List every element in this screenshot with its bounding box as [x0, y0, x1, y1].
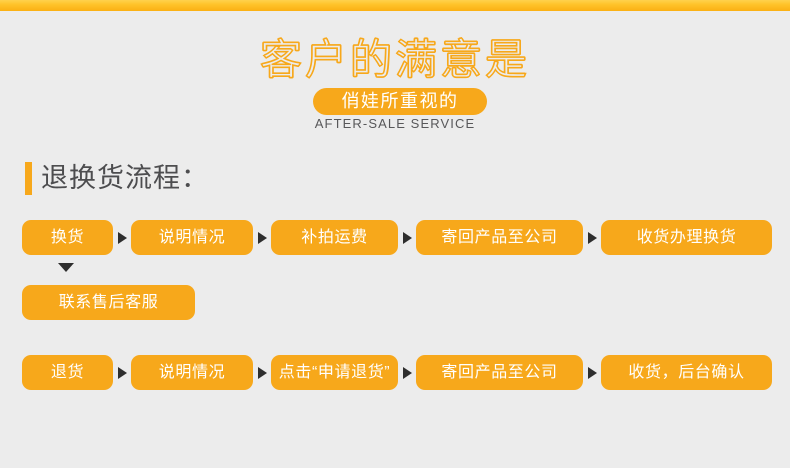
hero-badge: 俏娃所重视的 [313, 88, 487, 115]
arrow-right-icon [253, 365, 271, 381]
hero-subtitle: AFTER-SALE SERVICE [0, 115, 790, 133]
page-title: 退换货流程： [41, 162, 209, 195]
flow-step-contact-after-sale-service[interactable]: 联系售后客服 [22, 285, 195, 320]
heading-accent-bar [25, 162, 32, 195]
arrow-right-icon [583, 230, 601, 246]
flow-step-click-apply-return[interactable]: 点击“申请退货” [271, 355, 398, 390]
flow-step-ship-back-to-company[interactable]: 寄回产品至公司 [416, 220, 583, 255]
flow-step-extra-shipping-fee[interactable]: 补拍运费 [271, 220, 398, 255]
arrow-right-icon [583, 365, 601, 381]
flow-step-ship-back-to-company-return[interactable]: 寄回产品至公司 [416, 355, 583, 390]
flow-row-contact: 联系售后客服 [22, 285, 195, 320]
flow-step-exchange-start[interactable]: 换货 [22, 220, 113, 255]
flow-row-exchange: 换货 说明情况 补拍运费 寄回产品至公司 收货办理换货 [22, 220, 772, 255]
arrow-down-icon [58, 263, 74, 275]
top-accent-strip [0, 0, 790, 11]
arrow-right-icon [113, 230, 131, 246]
hero-banner: 客户的满意是 俏娃所重视的 AFTER-SALE SERVICE [0, 11, 790, 136]
arrow-right-icon [398, 365, 416, 381]
arrow-right-icon [253, 230, 271, 246]
flow-step-receive-and-process-exchange[interactable]: 收货办理换货 [601, 220, 772, 255]
flow-row-return: 退货 说明情况 点击“申请退货” 寄回产品至公司 收货，后台确认 [22, 355, 772, 390]
arrow-right-icon [398, 230, 416, 246]
section-heading: 退换货流程： [25, 160, 209, 196]
flow-step-explain-situation-return[interactable]: 说明情况 [131, 355, 253, 390]
hero-title: 客户的满意是 [0, 37, 790, 83]
flow-step-explain-situation[interactable]: 说明情况 [131, 220, 253, 255]
arrow-right-icon [113, 365, 131, 381]
flow-step-return-start[interactable]: 退货 [22, 355, 113, 390]
flow-step-receive-and-confirm[interactable]: 收货，后台确认 [601, 355, 772, 390]
